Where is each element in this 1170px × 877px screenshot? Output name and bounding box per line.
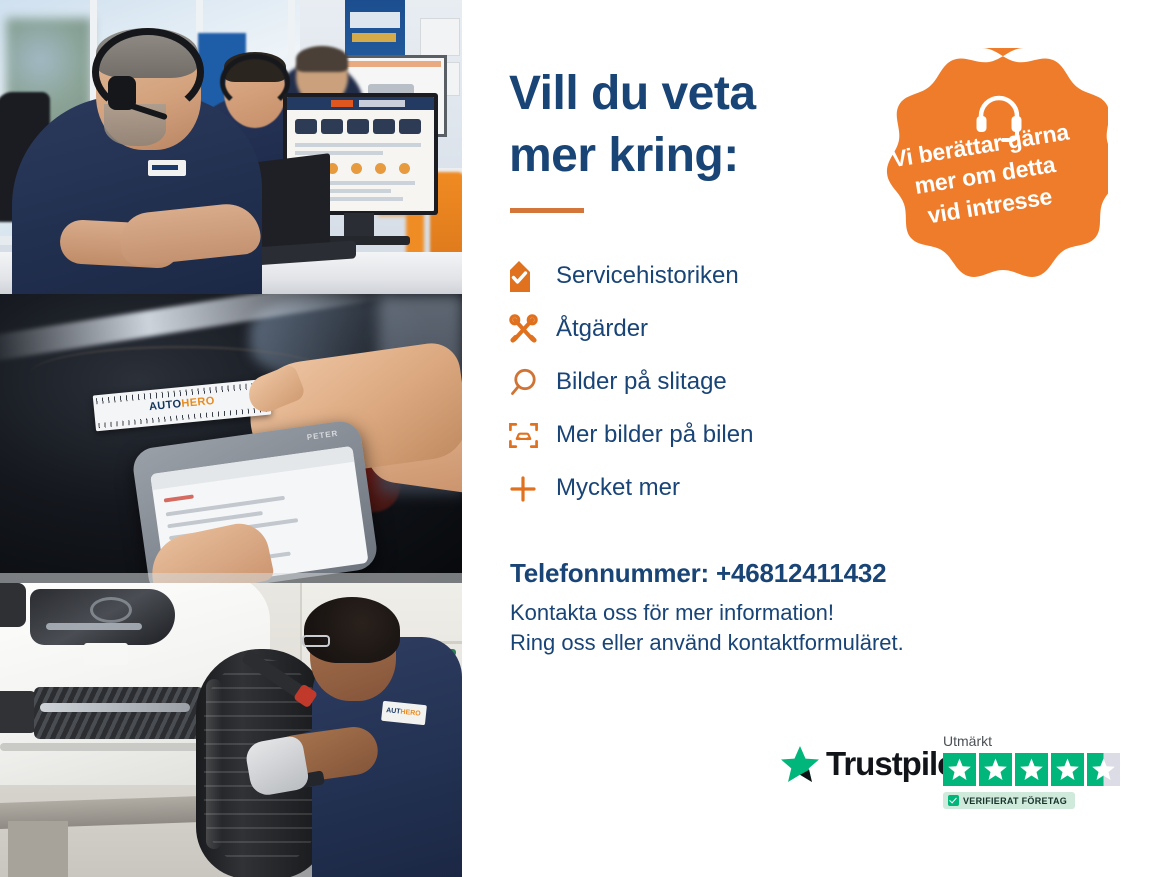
plus-icon <box>508 474 556 504</box>
feature-label: Mycket mer <box>556 475 680 501</box>
feature-item-mer-bilder-pa-bilen[interactable]: Mer bilder på bilen <box>508 409 938 462</box>
photo1-screen-navbar <box>287 97 434 110</box>
photo1-agent-2-headset <box>220 54 290 110</box>
feature-item-bilder-pa-slitage[interactable]: Bilder på slitage <box>508 356 938 409</box>
trustpilot-rating: Utmärkt <box>943 733 1133 811</box>
title-divider <box>510 208 584 213</box>
verified-check-icon <box>948 795 959 806</box>
photo3-work-glove <box>244 734 310 797</box>
feature-label: Åtgärder <box>556 316 648 342</box>
checklist-document-icon <box>508 261 556 292</box>
photo3-chrome-trim <box>40 703 190 712</box>
paint-thickness-inspection-photo: AUTOHERO PETER <box>0 294 462 583</box>
phone-line: Telefonnummer: +46812411432 <box>510 558 1030 589</box>
photo2-tablet-brand: PETER <box>306 429 339 442</box>
rating-star-1 <box>943 753 976 786</box>
promo-page: AUTOHERO PETER <box>0 0 1170 877</box>
call-centre-agents-photo <box>0 0 462 294</box>
ruler-logo-hero: HERO <box>181 395 215 410</box>
photo3-car-grille <box>0 691 38 733</box>
ruler-logo-auto: AUTO <box>148 398 182 413</box>
photo3-bumper-edge <box>0 743 220 751</box>
feature-list: Servicehistoriken Åtgärder <box>508 250 938 515</box>
phone-label: Telefonnummer: <box>510 558 709 588</box>
photo3-lift-support <box>8 821 68 877</box>
feature-item-atgarder[interactable]: Åtgärder <box>508 303 938 356</box>
trustpilot-star-row <box>943 753 1133 786</box>
wrench-screwdriver-icon <box>508 314 556 345</box>
photo3-car-grille <box>0 583 26 627</box>
contact-block: Telefonnummer: +46812411432 Kontakta oss… <box>510 558 1030 659</box>
rating-star-2 <box>979 753 1012 786</box>
photo3-lower-grille <box>34 687 204 739</box>
photo1-wall-poster <box>420 18 460 56</box>
photo3-technician-hair <box>304 597 400 663</box>
photo-column: AUTOHERO PETER <box>0 0 462 877</box>
trustpilot-widget[interactable]: Trustpilot Utmärkt <box>780 733 1140 823</box>
photo3-tyre-sidewall <box>206 679 222 849</box>
tech-badge-hero: HERO <box>400 709 421 718</box>
contact-line-2: Ring oss eller använd kontaktformuläret. <box>510 628 1030 658</box>
phone-number[interactable]: +46812411432 <box>716 558 886 588</box>
trustpilot-star-icon <box>780 745 820 783</box>
content-panel: Vill du veta mer kring: Vi berättar gärn… <box>462 0 1170 877</box>
rating-star-5-half <box>1087 753 1120 786</box>
rating-star-4 <box>1051 753 1084 786</box>
car-scan-icon <box>508 420 556 451</box>
photo3-safety-glasses <box>302 635 330 647</box>
verified-label: VERIFIERAT FÖRETAG <box>963 796 1067 806</box>
photo3-headlight <box>30 589 175 645</box>
feature-item-servicehistoriken[interactable]: Servicehistoriken <box>508 250 938 303</box>
photo2-floor-strip <box>0 573 462 583</box>
feature-label: Bilder på slitage <box>556 369 727 395</box>
tyre-inspection-photo: AUTHERO <box>0 583 462 877</box>
feature-label: Servicehistoriken <box>556 263 739 289</box>
photo1-agent-3-hair <box>296 46 348 72</box>
magnifier-icon <box>508 367 556 398</box>
verified-company-badge: VERIFIERAT FÖRETAG <box>943 792 1075 809</box>
feature-item-mycket-mer[interactable]: Mycket mer <box>508 462 938 515</box>
contact-line-1: Kontakta oss för mer information! <box>510 598 1030 628</box>
tech-badge-auto: AUT <box>386 707 401 715</box>
trustpilot-logo: Trustpilot <box>780 745 966 783</box>
trustpilot-rating-label: Utmärkt <box>943 733 1133 749</box>
photo3-number-plate <box>84 643 128 665</box>
rating-star-3 <box>1015 753 1048 786</box>
photo1-agent-1-name-badge <box>148 160 186 176</box>
feature-label: Mer bilder på bilen <box>556 422 753 448</box>
